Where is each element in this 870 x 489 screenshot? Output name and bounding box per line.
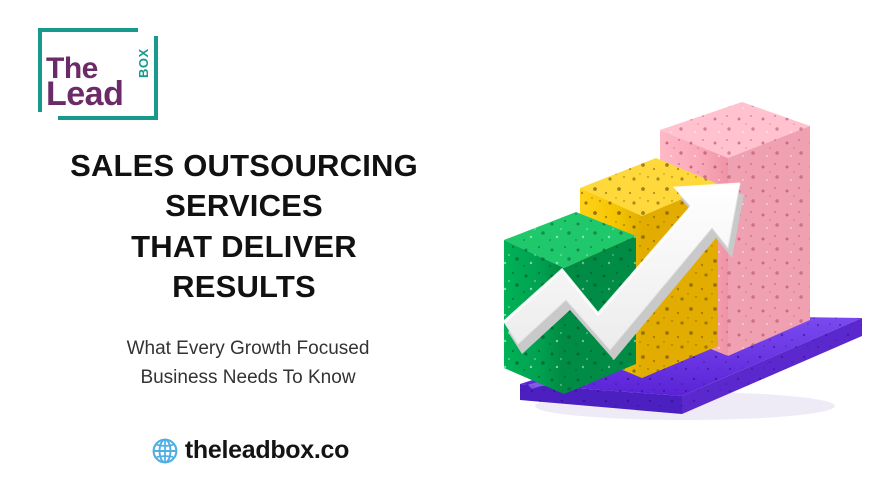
footer-url-text: theleadbox.co [185, 436, 349, 465]
3d-growth-bar-chart-illustration [470, 88, 870, 433]
logo-wordmark: The Lead [46, 56, 123, 109]
brand-logo[interactable]: The Lead BOX [32, 22, 154, 122]
globe-icon [151, 437, 179, 465]
subtitle-line-1: What Every Growth Focused [0, 334, 496, 363]
logo-text-lead: Lead [46, 80, 123, 109]
headline-line-4: RESULTS [0, 267, 488, 307]
footer-website[interactable]: theleadbox.co [0, 436, 500, 465]
subtitle-line-2: Business Needs To Know [0, 363, 496, 392]
headline-line-1: SALES OUTSOURCING [0, 146, 488, 186]
logo-text-box: BOX [136, 48, 151, 78]
poster-canvas: The Lead BOX SALES OUTSOURCING SERVICES … [0, 0, 870, 489]
headline: SALES OUTSOURCING SERVICES THAT DELIVER … [0, 146, 488, 307]
headline-line-2: SERVICES [0, 186, 488, 226]
subtitle: What Every Growth Focused Business Needs… [0, 334, 496, 393]
headline-line-3: THAT DELIVER [0, 227, 488, 267]
